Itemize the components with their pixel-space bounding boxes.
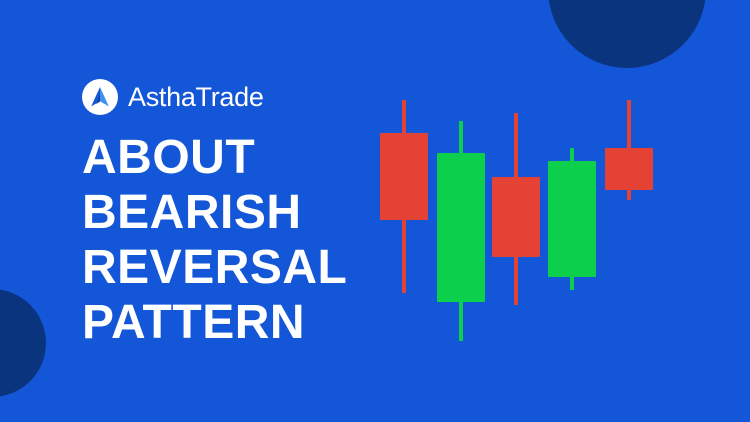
headline-line-4: PATTERN (82, 295, 402, 350)
candlestick-3-down (492, 85, 540, 360)
decorative-circle-bottom-left (0, 289, 46, 397)
candlestick-body (380, 133, 428, 220)
headline-line-1: ABOUT (82, 130, 402, 185)
candlestick-4-up (548, 85, 596, 360)
banner-canvas: AsthaTrade ABOUT BEARISH REVERSAL PATTER… (0, 0, 750, 422)
candlestick-1-down (380, 85, 428, 360)
brand-wordmark: AsthaTrade (128, 84, 264, 111)
candlestick-body (605, 148, 653, 190)
candlestick-body (437, 153, 485, 302)
candlestick-5-down (605, 85, 653, 360)
candlestick-2-up (437, 85, 485, 360)
headline-line-3: REVERSAL (82, 240, 402, 295)
astha-arrow-logo-icon (82, 79, 118, 115)
page-title: ABOUT BEARISH REVERSAL PATTERN (82, 130, 402, 350)
decorative-circle-top-right (548, 0, 706, 68)
candlestick-body (492, 177, 540, 257)
candlestick-body (548, 161, 596, 277)
brand-lockup: AsthaTrade (82, 79, 264, 115)
candlestick-chart (370, 85, 670, 360)
headline-line-2: BEARISH (82, 185, 402, 240)
